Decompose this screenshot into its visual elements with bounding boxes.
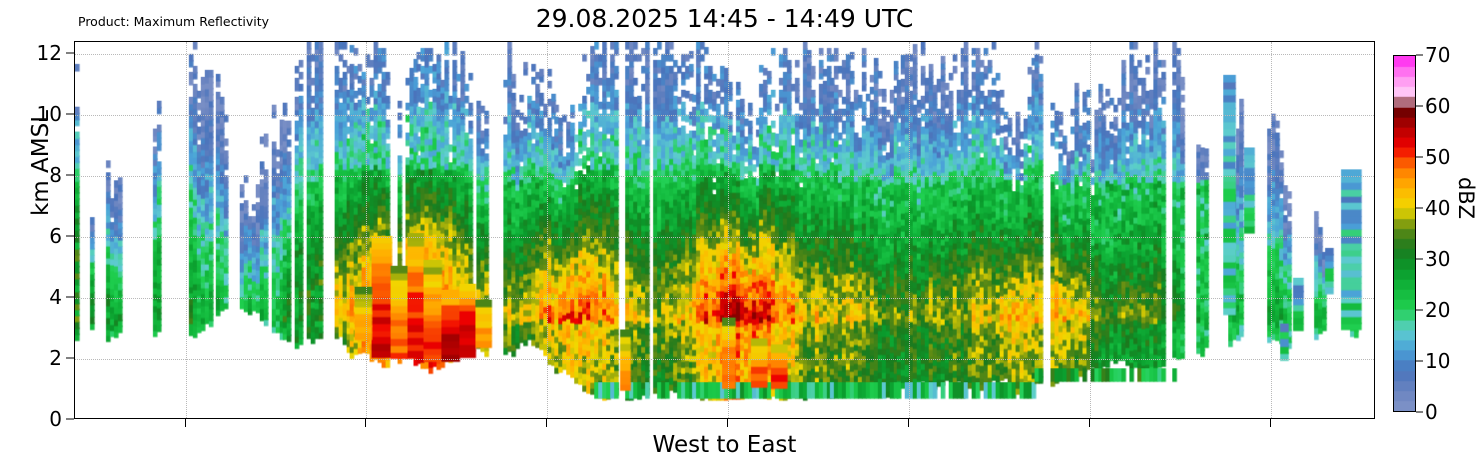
colorbar-tick-label: 50 — [1425, 145, 1450, 169]
colorbar-tick-mark — [1416, 208, 1423, 209]
y-axis-tick-mark — [66, 419, 74, 420]
y-axis-tick-label: 12 — [37, 41, 62, 65]
y-axis-label: km AMSL — [28, 83, 54, 243]
y-axis-tick-label: 2 — [49, 346, 62, 370]
y-axis-tick-mark — [66, 175, 74, 176]
x-axis-tick-mark — [727, 419, 728, 427]
y-axis-tick-mark — [66, 114, 74, 115]
y-axis-tick-mark — [66, 236, 74, 237]
page-title: 29.08.2025 14:45 - 14:49 UTC — [74, 4, 1375, 33]
y-axis-tick-label: 4 — [49, 285, 62, 309]
x-axis-tick-mark — [546, 419, 547, 427]
colorbar — [1393, 55, 1416, 412]
colorbar-tick-label: 40 — [1425, 196, 1450, 220]
reflectivity-heatmap — [75, 42, 1374, 418]
colorbar-tick-mark — [1416, 55, 1423, 56]
colorbar-tick-label: 0 — [1425, 400, 1438, 424]
y-axis-tick-mark — [66, 358, 74, 359]
colorbar-tick-label: 30 — [1425, 247, 1450, 271]
y-axis-tick-mark — [66, 297, 74, 298]
colorbar-gradient — [1394, 56, 1415, 411]
radar-cross-section-figure: Product: Maximum Reflectivity 29.08.2025… — [0, 0, 1482, 470]
x-axis-tick-mark — [185, 419, 186, 427]
x-axis-tick-mark — [365, 419, 366, 427]
colorbar-tick-mark — [1416, 259, 1423, 260]
y-axis-tick-label: 0 — [49, 407, 62, 431]
colorbar-tick-mark — [1416, 310, 1423, 311]
colorbar-tick-mark — [1416, 361, 1423, 362]
x-axis-label: West to East — [74, 432, 1375, 458]
colorbar-tick-mark — [1416, 106, 1423, 107]
x-axis-tick-mark — [1089, 419, 1090, 427]
colorbar-tick-label: 60 — [1425, 94, 1450, 118]
colorbar-axis-label: dBZ — [1454, 128, 1478, 268]
x-axis-tick-mark — [908, 419, 909, 427]
colorbar-tick-label: 10 — [1425, 349, 1450, 373]
x-axis-tick-mark — [1270, 419, 1271, 427]
colorbar-tick-mark — [1416, 412, 1423, 413]
plot-area — [74, 41, 1375, 419]
colorbar-tick-label: 70 — [1425, 43, 1450, 67]
colorbar-tick-label: 20 — [1425, 298, 1450, 322]
y-axis-tick-mark — [66, 53, 74, 54]
colorbar-tick-mark — [1416, 157, 1423, 158]
